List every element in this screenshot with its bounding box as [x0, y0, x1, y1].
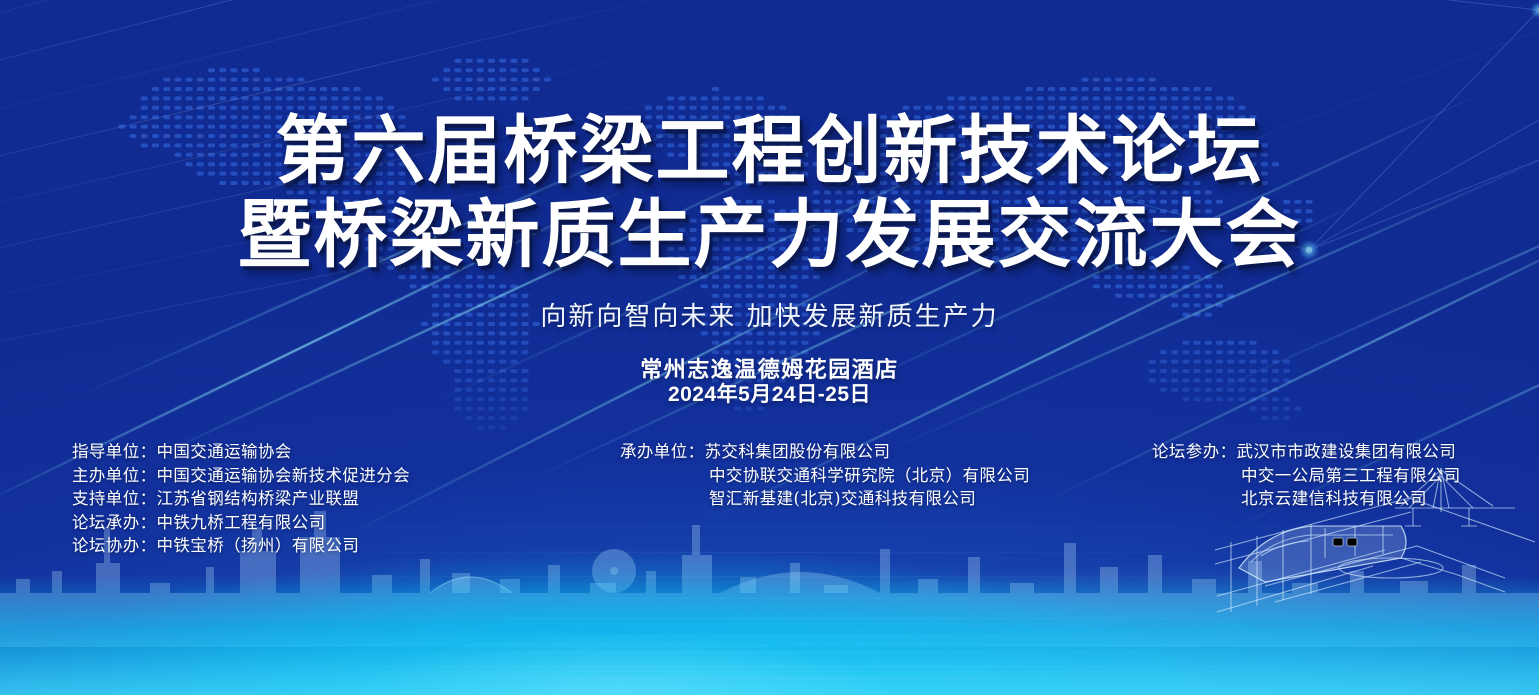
organization-value: 中国交通运输协会 [157, 442, 292, 461]
banner-subtitle: 向新向智向未来 加快发展新质生产力 [0, 296, 1539, 333]
organization-line: 北京云建信科技有限公司 [1152, 487, 1461, 511]
organization-value: 武汉市市政建设集团有限公司 [1237, 442, 1457, 461]
organization-label: 指导单位： [72, 442, 157, 461]
organization-label: 论坛参办： [1152, 442, 1237, 461]
organization-value: 中铁宝桥（扬州）有限公司 [157, 536, 360, 555]
organization-label: 支持单位： [72, 489, 157, 508]
organization-line: 支持单位：江苏省钢结构桥梁产业联盟 [72, 487, 410, 511]
organizations-middle-column: 承办单位：苏交科集团股份有限公司中交协联交通科学研究院（北京）有限公司智汇新基建… [620, 440, 1030, 511]
title-line-2: 暨桥梁新质生产力发展交流大会 [0, 196, 1539, 274]
organization-label: 论坛协办： [72, 536, 157, 555]
organization-value: 中国交通运输协会新技术促进分会 [157, 466, 411, 485]
organization-value: 智汇新基建(北京)交通科技有限公司 [709, 489, 976, 508]
organization-value: 中铁九桥工程有限公司 [157, 513, 326, 532]
organizations-right-column: 论坛参办：武汉市市政建设集团有限公司中交一公局第三工程有限公司北京云建信科技有限… [1152, 440, 1461, 511]
organization-line: 中交协联交通科学研究院（北京）有限公司 [620, 464, 1030, 488]
organization-line: 承办单位：苏交科集团股份有限公司 [620, 440, 1030, 464]
organization-value: 中交一公局第三工程有限公司 [1241, 466, 1461, 485]
organizations-left-column: 指导单位：中国交通运输协会主办单位：中国交通运输协会新技术促进分会支持单位：江苏… [72, 440, 410, 558]
organization-value: 北京云建信科技有限公司 [1241, 489, 1427, 508]
conference-banner: 第六届桥梁工程创新技术论坛 暨桥梁新质生产力发展交流大会 向新向智向未来 加快发… [0, 0, 1539, 695]
banner-title: 第六届桥梁工程创新技术论坛 暨桥梁新质生产力发展交流大会 [0, 112, 1539, 274]
title-line-1: 第六届桥梁工程创新技术论坛 [0, 112, 1539, 190]
organization-value: 江苏省钢结构桥梁产业联盟 [157, 489, 360, 508]
organization-label: 主办单位： [72, 466, 157, 485]
organization-value: 中交协联交通科学研究院（北京）有限公司 [709, 466, 1030, 485]
organization-line: 论坛参办：武汉市市政建设集团有限公司 [1152, 440, 1461, 464]
organization-line: 论坛承办：中铁九桥工程有限公司 [72, 511, 410, 535]
organizations: 指导单位：中国交通运输协会主办单位：中国交通运输协会新技术促进分会支持单位：江苏… [0, 440, 1539, 570]
organization-line: 指导单位：中国交通运输协会 [72, 440, 410, 464]
organization-label: 承办单位： [620, 442, 705, 461]
organization-value: 苏交科集团股份有限公司 [705, 442, 891, 461]
organization-label: 论坛承办： [72, 513, 157, 532]
organization-line: 主办单位：中国交通运输协会新技术促进分会 [72, 464, 410, 488]
organization-line: 中交一公局第三工程有限公司 [1152, 464, 1461, 488]
organization-line: 论坛协办：中铁宝桥（扬州）有限公司 [72, 534, 410, 558]
organization-line: 智汇新基建(北京)交通科技有限公司 [620, 487, 1030, 511]
event-date: 2024年5月24日-25日 [0, 378, 1539, 408]
